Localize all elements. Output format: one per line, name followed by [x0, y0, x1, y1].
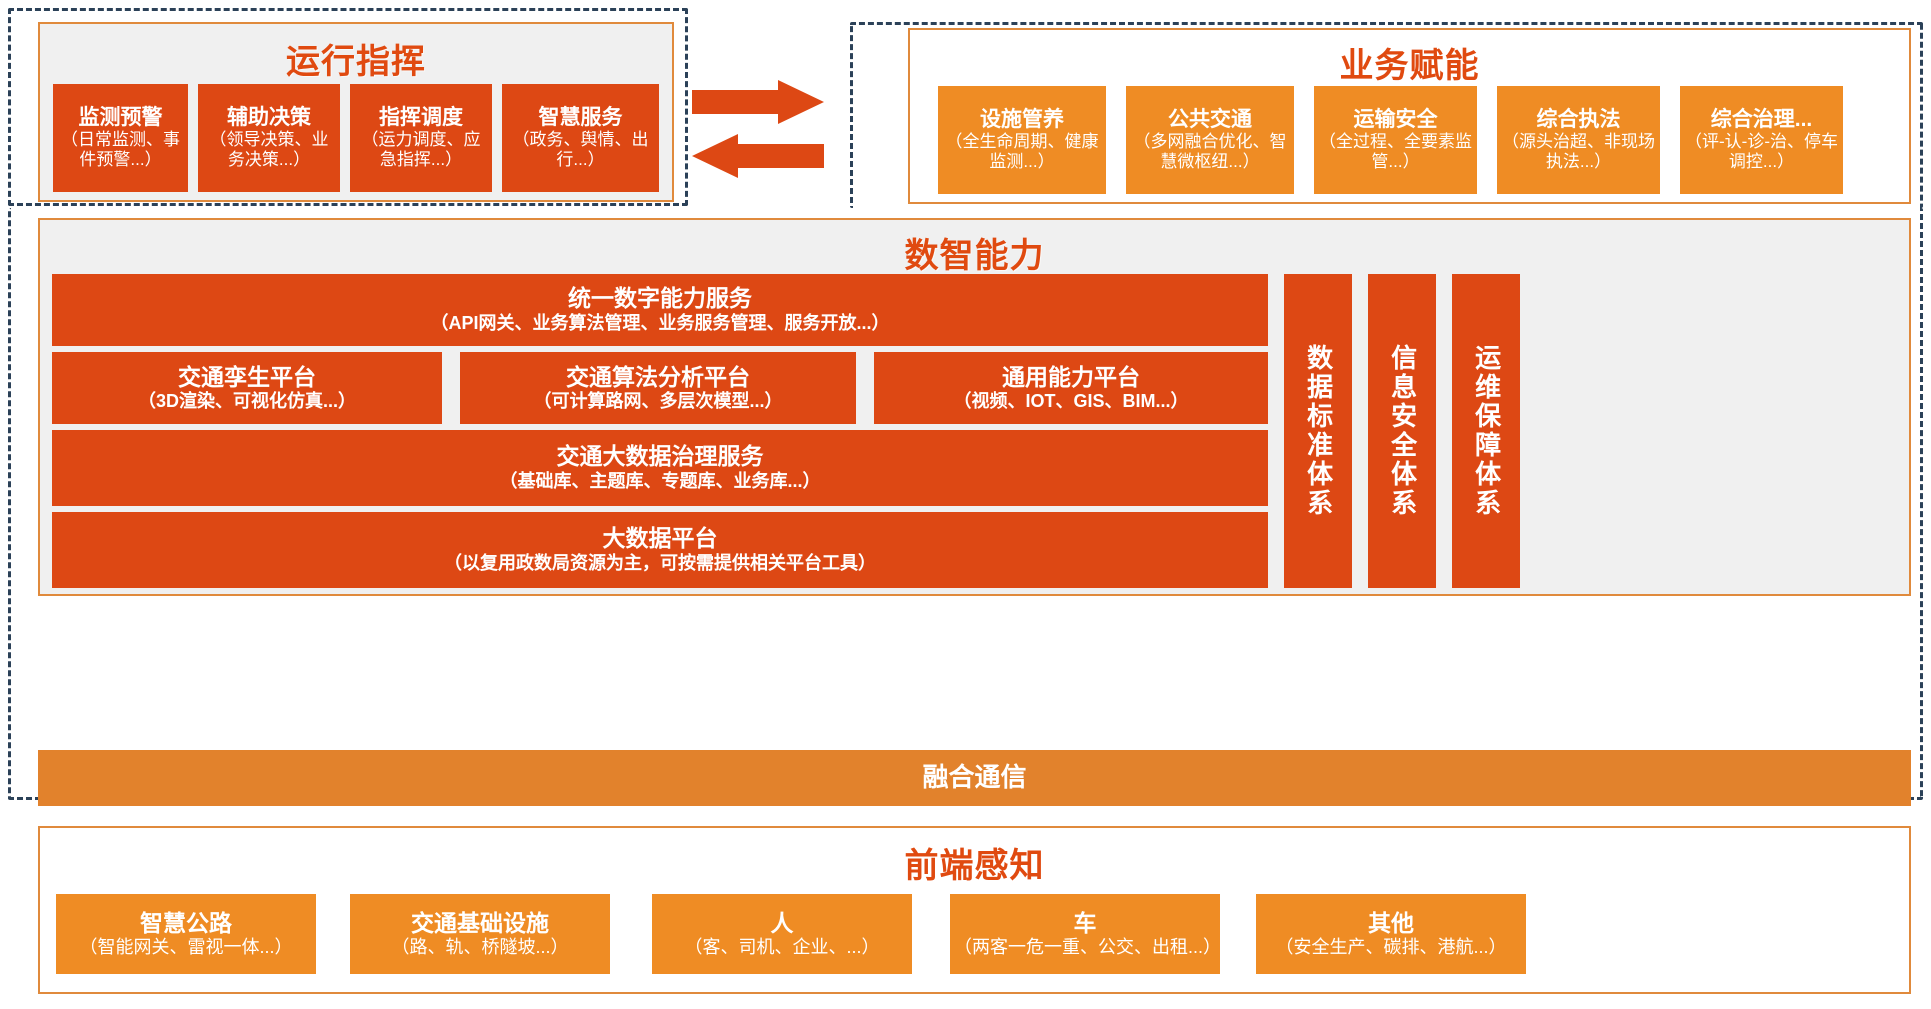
tile-title: 运输安全	[1354, 108, 1438, 133]
bigdata-platform-bar[interactable]: 大数据平台 （以复用政数局资源为主，可按需提供相关平台工具）	[52, 512, 1268, 588]
tile-title: 综合执法	[1537, 108, 1621, 133]
tile-subtitle: （安全生产、碳排、港航...）	[1275, 937, 1506, 958]
platform-tile-traffic-twin[interactable]: 交通孪生平台 （3D渲染、可视化仿真...）	[52, 352, 442, 424]
capability-title: 数智能力	[40, 220, 1909, 277]
tile-subtitle: （多网融合优化、智慧微枢纽...）	[1130, 132, 1290, 172]
business-tile-transport-safety[interactable]: 运输安全 （全过程、全要素监管...）	[1314, 86, 1477, 194]
business-title: 业务赋能	[910, 30, 1909, 87]
tile-subtitle: （可计算路网、多层次模型...）	[533, 391, 782, 412]
tile-subtitle: （日常监测、事件预警...）	[57, 130, 184, 170]
tile-title: 智慧公路	[140, 910, 232, 937]
tile-title: 其他	[1368, 910, 1414, 937]
business-tile-public-transport[interactable]: 公共交通 （多网融合优化、智慧微枢纽...）	[1126, 86, 1294, 194]
bar-title: 融合通信	[922, 762, 1026, 793]
perception-tile-infrastructure[interactable]: 交通基础设施 （路、轨、桥隧坡...）	[350, 894, 610, 974]
operations-tile-monitoring[interactable]: 监测预警 （日常监测、事件预警...）	[53, 84, 188, 192]
tile-title: 综合治理...	[1711, 108, 1813, 133]
arrow-right-icon	[692, 80, 824, 124]
operations-tile-smart-service[interactable]: 智慧服务 （政务、舆情、出行...）	[502, 84, 659, 192]
tile-subtitle: （3D渲染、可视化仿真...）	[138, 391, 356, 412]
tile-title: 监测预警	[79, 106, 163, 131]
tile-title: 车	[1074, 910, 1097, 937]
pillar-label: 运维保障体系	[1472, 344, 1499, 518]
perception-tile-people[interactable]: 人 （客、司机、企业、...）	[652, 894, 912, 974]
tile-title: 交通孪生平台	[178, 364, 316, 391]
pillar-ops-assurance[interactable]: 运维保障体系	[1452, 274, 1520, 588]
tile-title: 通用能力平台	[1002, 364, 1140, 391]
platform-tile-general-capability[interactable]: 通用能力平台 （视频、IOT、GIS、BIM...）	[874, 352, 1268, 424]
tile-title: 设施管养	[980, 108, 1064, 133]
bar-subtitle: （基础库、主题库、专题库、业务库...）	[499, 471, 820, 493]
perception-tile-smart-highway[interactable]: 智慧公路 （智能网关、雷视一体...）	[56, 894, 316, 974]
pillar-data-standard[interactable]: 数据标准体系	[1284, 274, 1352, 588]
perception-title: 前端感知	[40, 828, 1909, 887]
tile-subtitle: （政务、舆情、出行...）	[506, 130, 655, 170]
business-tile-facility-maintenance[interactable]: 设施管养 （全生命周期、健康监测...）	[938, 86, 1106, 194]
bar-title: 大数据平台	[603, 525, 718, 553]
operations-tile-decision-support[interactable]: 辅助决策 （领导决策、业务决策...）	[198, 84, 340, 192]
operations-title: 运行指挥	[40, 24, 672, 83]
pillar-information-security[interactable]: 信息安全体系	[1368, 274, 1436, 588]
arrow-left-icon	[692, 134, 824, 178]
tile-title: 交通基础设施	[411, 910, 549, 937]
tile-title: 指挥调度	[379, 106, 463, 131]
bar-subtitle: （以复用政数局资源为主，可按需提供相关平台工具）	[444, 553, 876, 575]
platform-tile-algorithm-analysis[interactable]: 交通算法分析平台 （可计算路网、多层次模型...）	[460, 352, 856, 424]
tile-subtitle: （路、轨、桥隧坡...）	[391, 937, 568, 958]
tile-title: 辅助决策	[227, 106, 311, 131]
operations-tile-command-dispatch[interactable]: 指挥调度 （运力调度、应急指挥...）	[350, 84, 492, 192]
pillar-label: 信息安全体系	[1388, 344, 1415, 518]
tile-subtitle: （源头治超、非现场执法...）	[1501, 132, 1656, 172]
perception-tile-other[interactable]: 其他 （安全生产、碳排、港航...）	[1256, 894, 1526, 974]
bar-title: 统一数字能力服务	[568, 285, 752, 313]
tile-subtitle: （领导决策、业务决策...）	[202, 130, 336, 170]
tile-subtitle: （视频、IOT、GIS、BIM...）	[953, 391, 1188, 412]
bar-title: 交通大数据治理服务	[557, 443, 764, 471]
pillar-label: 数据标准体系	[1304, 344, 1331, 518]
unified-digital-service-bar[interactable]: 统一数字能力服务 （API网关、业务算法管理、业务服务管理、服务开放...）	[52, 274, 1268, 346]
business-tile-integrated-enforcement[interactable]: 综合执法 （源头治超、非现场执法...）	[1497, 86, 1660, 194]
bar-subtitle: （API网关、业务算法管理、业务服务管理、服务开放...）	[430, 313, 889, 335]
tile-subtitle: （全过程、全要素监管...）	[1318, 132, 1473, 172]
business-tile-integrated-governance[interactable]: 综合治理... （评-认-诊-治、停车调控...）	[1680, 86, 1843, 194]
tile-subtitle: （评-认-诊-治、停车调控...）	[1684, 132, 1839, 172]
tile-title: 公共交通	[1168, 108, 1252, 133]
tile-title: 交通算法分析平台	[566, 364, 750, 391]
tile-title: 智慧服务	[539, 106, 623, 131]
data-governance-bar[interactable]: 交通大数据治理服务 （基础库、主题库、专题库、业务库...）	[52, 430, 1268, 506]
tile-title: 人	[771, 910, 794, 937]
tile-subtitle: （客、司机、企业、...）	[684, 937, 879, 958]
tile-subtitle: （运力调度、应急指挥...）	[354, 130, 488, 170]
tile-subtitle: （两客一危一重、公交、出租...）	[954, 937, 1216, 958]
tile-subtitle: （智能网关、雷视一体...）	[79, 937, 292, 958]
perception-tile-vehicles[interactable]: 车 （两客一危一重、公交、出租...）	[950, 894, 1220, 974]
tile-subtitle: （全生命周期、健康监测...）	[942, 132, 1102, 172]
communication-bar[interactable]: 融合通信	[38, 750, 1911, 806]
